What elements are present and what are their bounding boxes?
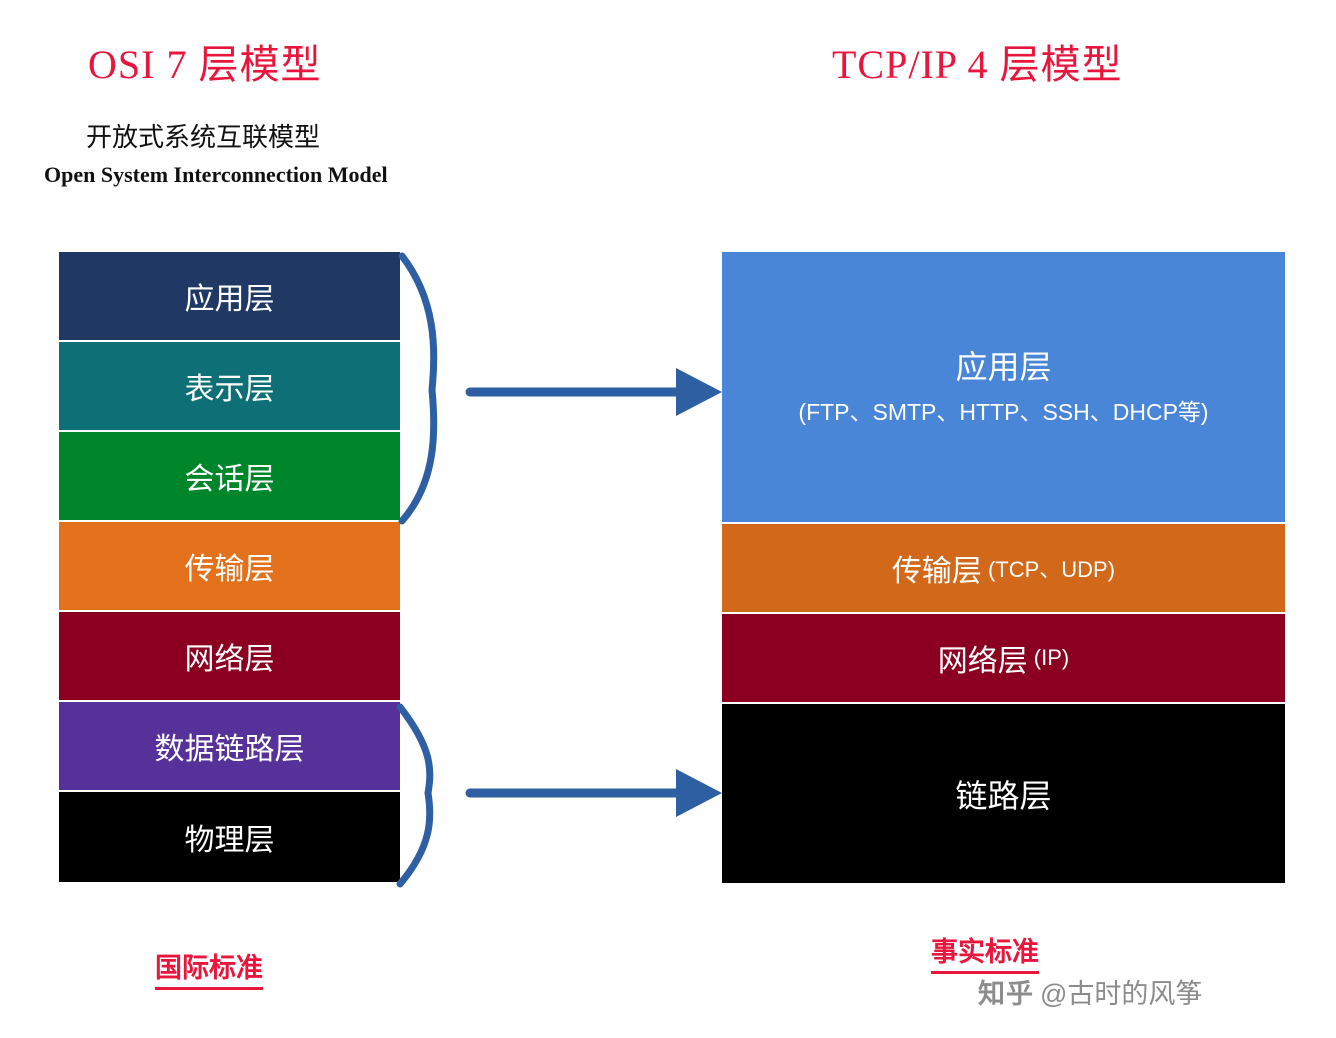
tcp-layer-label: 应用层: [955, 347, 1051, 387]
caption-osi-underline: [155, 987, 263, 990]
tcp-layer-label: 网络层: [938, 636, 1028, 680]
tcp-layer-detail: (FTP、SMTP、HTTP、SSH、DHCP等): [798, 393, 1208, 427]
osi-layer-label: 表示层: [185, 364, 275, 408]
watermark-site: 知乎: [978, 972, 1034, 1011]
osi-layer-label: 物理层: [185, 815, 275, 859]
watermark: 知乎 @古时的风筝: [978, 972, 1202, 1011]
caption-defacto-standard: 事实标准: [931, 930, 1039, 974]
brace-lower-icon: [400, 707, 430, 884]
diagram-canvas: OSI 7 层模型 TCP/IP 4 层模型 开放式系统互联模型 Open Sy…: [0, 0, 1336, 1038]
osi-layer-presentation: 表示层: [59, 342, 400, 432]
osi-layer-transport: 传输层: [59, 522, 400, 612]
osi-layer-datalink: 数据链路层: [59, 702, 400, 792]
osi-layer-label: 会话层: [185, 454, 275, 498]
osi-layer-stack: 应用层 表示层 会话层 传输层 网络层 数据链路层 物理层: [59, 252, 400, 882]
caption-tcp-text: 事实标准: [931, 937, 1039, 967]
tcp-layer-label: 传输层: [892, 546, 982, 590]
osi-layer-label: 传输层: [185, 544, 275, 588]
osi-layer-label: 应用层: [185, 274, 275, 318]
arrow-lower-head-icon: [676, 769, 722, 817]
tcp-layer-label: 链路层: [955, 771, 1051, 817]
osi-layer-network: 网络层: [59, 612, 400, 702]
osi-layer-session: 会话层: [59, 432, 400, 522]
osi-layer-application: 应用层: [59, 252, 400, 342]
tcp-layer-detail: (IP): [1034, 645, 1069, 671]
caption-osi-text: 国际标准: [155, 953, 263, 983]
page-title-tcp: TCP/IP 4 层模型: [832, 32, 1123, 90]
watermark-handle: @古时的风筝: [1040, 972, 1202, 1011]
arrow-upper-head-icon: [676, 368, 722, 416]
osi-subtitle-chinese: 开放式系统互联模型: [86, 117, 320, 154]
tcp-layer-link: 链路层: [722, 704, 1285, 883]
tcp-layer-detail: (TCP、UDP): [988, 552, 1115, 584]
osi-subtitle-english: Open System Interconnection Model: [44, 162, 388, 188]
tcp-layer-application: 应用层 (FTP、SMTP、HTTP、SSH、DHCP等): [722, 252, 1285, 524]
osi-layer-label: 网络层: [185, 634, 275, 678]
osi-layer-physical: 物理层: [59, 792, 400, 882]
page-title-osi: OSI 7 层模型: [88, 32, 321, 90]
tcp-layer-network: 网络层 (IP): [722, 614, 1285, 704]
tcp-layer-transport: 传输层 (TCP、UDP): [722, 524, 1285, 614]
caption-international-standard: 国际标准: [155, 946, 263, 990]
osi-layer-label: 数据链路层: [155, 724, 305, 768]
brace-upper-icon: [402, 256, 434, 521]
tcpip-layer-stack: 应用层 (FTP、SMTP、HTTP、SSH、DHCP等) 传输层 (TCP、U…: [722, 252, 1285, 883]
